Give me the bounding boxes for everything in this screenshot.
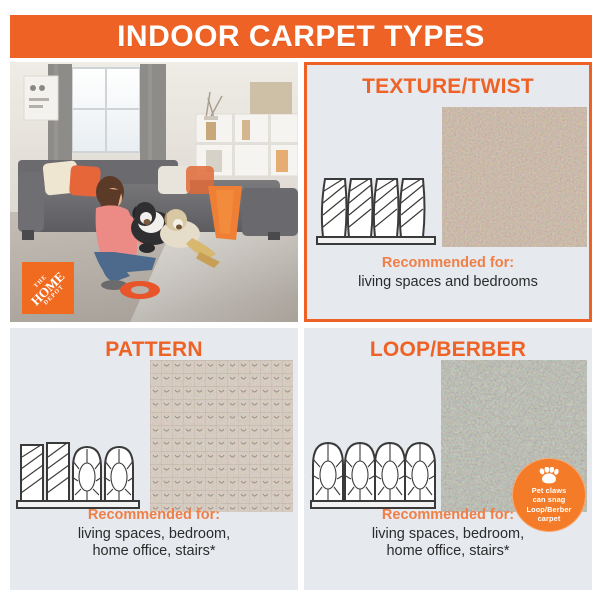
diagram-pattern	[15, 433, 143, 513]
panel-living-room-photo: THE HOME DEPOT	[10, 62, 298, 322]
paw-print-icon	[538, 467, 560, 484]
rec-line-loop-0: living spaces, bedroom,	[304, 526, 592, 543]
rec-line-pattern-0: living spaces, bedroom,	[10, 526, 298, 543]
home-depot-logo: THE HOME DEPOT	[22, 262, 74, 314]
panel-title-texture-twist: TEXTURE/TWIST	[307, 75, 589, 99]
panel-loop-berber[interactable]: LOOP/BERBER	[304, 328, 592, 590]
carpet-swatch-pattern	[150, 360, 293, 512]
rec-label-loop: Recommended for:	[304, 507, 592, 524]
recommendation-texture-twist: Recommended for: living spaces and bedro…	[307, 255, 589, 291]
pet-badge-line-1: Pet claws	[526, 486, 571, 495]
home-depot-logo-text: THE HOME DEPOT	[25, 265, 71, 311]
recommendation-loop-berber: Recommended for: living spaces, bedroom,…	[304, 507, 592, 560]
pet-badge-line-2: can snag	[526, 495, 571, 504]
recommendation-pattern: Recommended for: living spaces, bedroom,…	[10, 507, 298, 560]
diagram-texture-twist	[315, 165, 440, 250]
header-bar: INDOOR CARPET TYPES	[10, 15, 592, 58]
panel-pattern[interactable]: PATTERN	[10, 328, 298, 590]
rec-label-texture: Recommended for:	[307, 255, 589, 272]
panel-title-pattern: PATTERN	[10, 338, 298, 362]
infographic-root: INDOOR CARPET TYPES	[0, 0, 600, 600]
diagram-loop-berber	[309, 433, 439, 513]
page-title: INDOOR CARPET TYPES	[117, 20, 485, 54]
rec-line-pattern-1: home office, stairs*	[10, 543, 298, 560]
carpet-swatch-texture-twist	[442, 107, 587, 247]
rec-line-texture-0: living spaces and bedrooms	[307, 274, 589, 291]
rec-label-pattern: Recommended for:	[10, 507, 298, 524]
home-depot-logo-inner: THE HOME DEPOT	[25, 265, 71, 311]
panel-title-loop-berber: LOOP/BERBER	[304, 338, 592, 362]
rec-line-loop-1: home office, stairs*	[304, 543, 592, 560]
panel-texture-twist[interactable]: TEXTURE/TWIST	[304, 62, 592, 322]
